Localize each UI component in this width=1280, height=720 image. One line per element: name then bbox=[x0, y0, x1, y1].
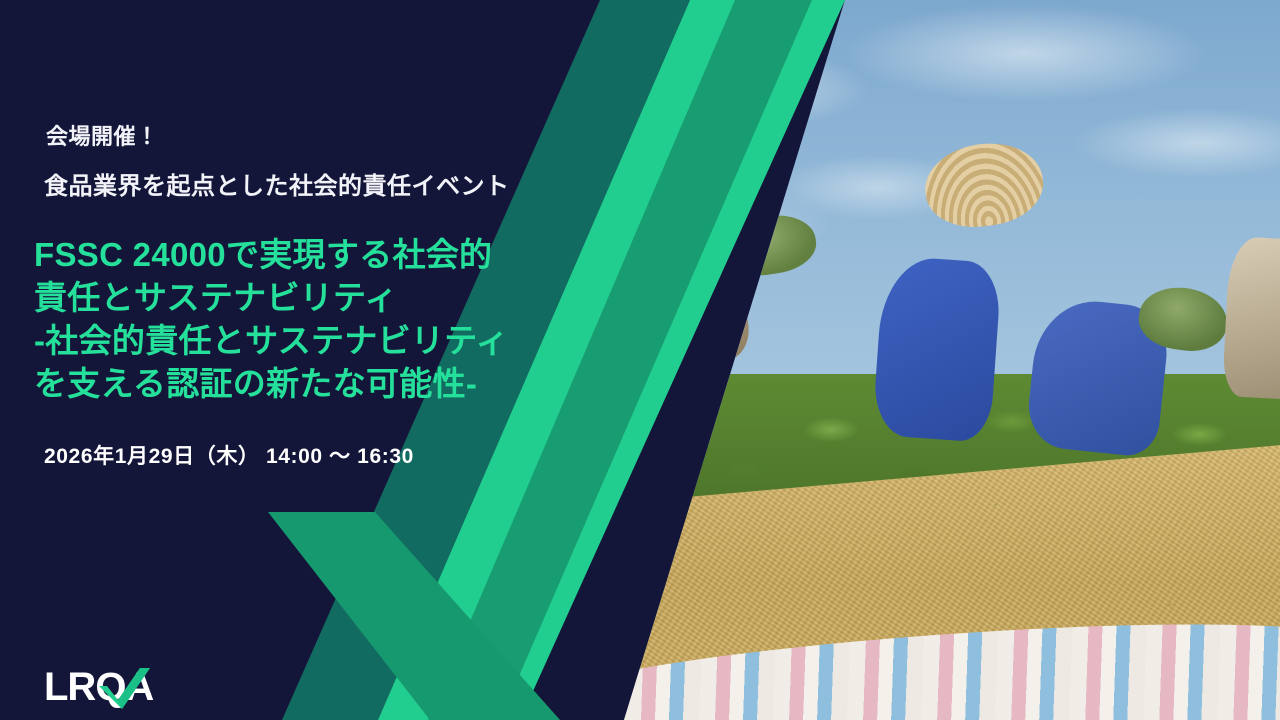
text-content: 会場開催！ 食品業界を起点とした社会的責任イベント FSSC 24000で実現す… bbox=[0, 0, 660, 720]
event-subkicker: 食品業界を起点とした社会的責任イベント bbox=[44, 166, 510, 201]
event-title-line-4: を支える認証の新たな可能性- bbox=[34, 363, 634, 406]
lrqa-logo-mark: LRQA bbox=[44, 664, 204, 710]
lrqa-logo: LRQA bbox=[44, 664, 204, 710]
event-title: FSSC 24000で実現する社会的 責任とサステナビリティ -社会的責任とサス… bbox=[34, 234, 634, 406]
event-banner: 会場開催！ 食品業界を起点とした社会的責任イベント FSSC 24000で実現す… bbox=[0, 0, 1280, 720]
event-title-line-3: -社会的責任とサステナビリティ bbox=[34, 320, 634, 363]
event-datetime: 2026年1月29日（木） 14:00 ～ 16:30 bbox=[44, 440, 414, 470]
event-kicker: 会場開催！ bbox=[46, 119, 159, 151]
event-title-line-2: 責任とサステナビリティ bbox=[34, 277, 634, 320]
hero-photo-image bbox=[610, 0, 1280, 720]
event-title-line-1: FSSC 24000で実現する社会的 bbox=[34, 234, 634, 277]
